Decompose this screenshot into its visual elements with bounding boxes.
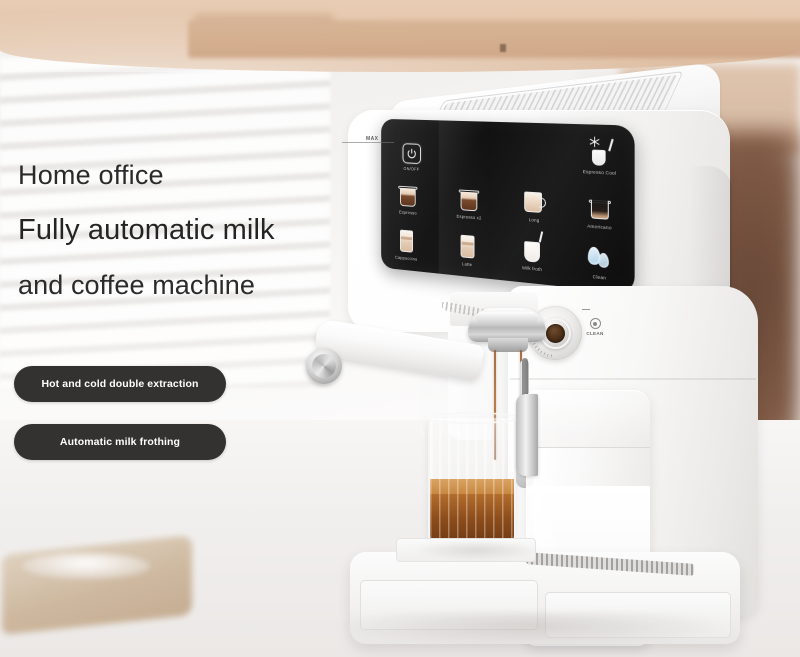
button-espresso-label: Espresso bbox=[399, 210, 417, 216]
banner-text-speck bbox=[500, 44, 506, 52]
button-clean[interactable]: Clean bbox=[571, 238, 628, 283]
power-button-label: ON/OFF bbox=[403, 166, 419, 172]
cappuccino-glass-icon bbox=[395, 223, 418, 254]
feature-badges: Hot and cold double extraction Automatic… bbox=[14, 366, 226, 460]
button-clean-label: Clean bbox=[593, 274, 606, 281]
milk-container-lid[interactable] bbox=[526, 390, 650, 448]
glass-rim bbox=[424, 412, 520, 424]
button-long[interactable]: Long bbox=[508, 182, 561, 224]
button-americano-label: Americano bbox=[587, 223, 612, 230]
button-long-label: Long bbox=[529, 217, 540, 223]
button-cappuccino-label: Cappuccino bbox=[395, 255, 417, 262]
tower-seam-line bbox=[510, 378, 756, 380]
espresso-double-cup-icon bbox=[457, 182, 481, 213]
button-espresso-double[interactable]: Espresso x2 bbox=[444, 181, 494, 222]
headline-line-3: and coffee machine bbox=[18, 272, 358, 299]
espresso-glass bbox=[428, 418, 516, 548]
milk-container-handle[interactable] bbox=[516, 394, 538, 476]
milk-max-line bbox=[342, 142, 394, 150]
button-milk-froth-label: Milk froth bbox=[522, 265, 542, 272]
button-espresso-cool-label: Espresso Cool bbox=[583, 169, 616, 176]
clean-marking: CLEAN bbox=[580, 318, 610, 336]
button-latte[interactable]: Latte bbox=[442, 227, 492, 269]
button-espresso[interactable]: Espresso bbox=[385, 177, 432, 216]
espresso-liquid bbox=[430, 479, 514, 546]
snowflake-cup-icon bbox=[586, 135, 613, 168]
headline-block: Home office Fully automatic milk and cof… bbox=[18, 162, 358, 299]
button-americano[interactable]: Americano bbox=[571, 188, 628, 232]
clean-symbol-icon bbox=[590, 318, 601, 329]
power-icon bbox=[402, 135, 420, 164]
water-drops-icon bbox=[586, 239, 613, 273]
badge-hot-cold-extraction: Hot and cold double extraction bbox=[14, 366, 226, 402]
long-mug-icon bbox=[521, 183, 547, 215]
button-milk-froth[interactable]: Milk froth bbox=[506, 230, 559, 273]
milk-jug-icon bbox=[519, 232, 545, 265]
espresso-crema bbox=[430, 479, 514, 494]
steam-dial-knob-center bbox=[546, 324, 565, 343]
latte-glass-icon bbox=[455, 228, 479, 260]
power-button[interactable]: ON/OFF bbox=[388, 134, 435, 172]
espresso-cup-icon bbox=[397, 178, 420, 208]
headline-line-1: Home office bbox=[18, 162, 358, 189]
milk-max-label: MAX bbox=[366, 136, 378, 142]
button-espresso-cool[interactable]: Espresso Cool bbox=[571, 134, 628, 176]
button-cappuccino[interactable]: Cappuccino bbox=[383, 223, 430, 263]
product-banner-image: Home office Fully automatic milk and cof… bbox=[0, 0, 800, 657]
clean-marking-label: CLEAN bbox=[586, 331, 603, 336]
portafilter-ring-highlight bbox=[476, 312, 538, 324]
americano-glass-icon bbox=[586, 189, 613, 222]
steam-dial-index-mark bbox=[582, 309, 590, 310]
control-panel[interactable]: ON/OFF Espresso bbox=[381, 119, 634, 294]
machine-contact-shadow bbox=[330, 612, 730, 646]
button-espresso-double-label: Espresso x2 bbox=[457, 214, 482, 221]
headline-line-2: Fully automatic milk bbox=[18, 216, 358, 245]
banner-redacted-text bbox=[188, 20, 800, 58]
button-latte-label: Latte bbox=[462, 261, 472, 267]
glass-contact-shadow bbox=[412, 540, 542, 560]
foreground-cup-shadow bbox=[22, 553, 150, 579]
